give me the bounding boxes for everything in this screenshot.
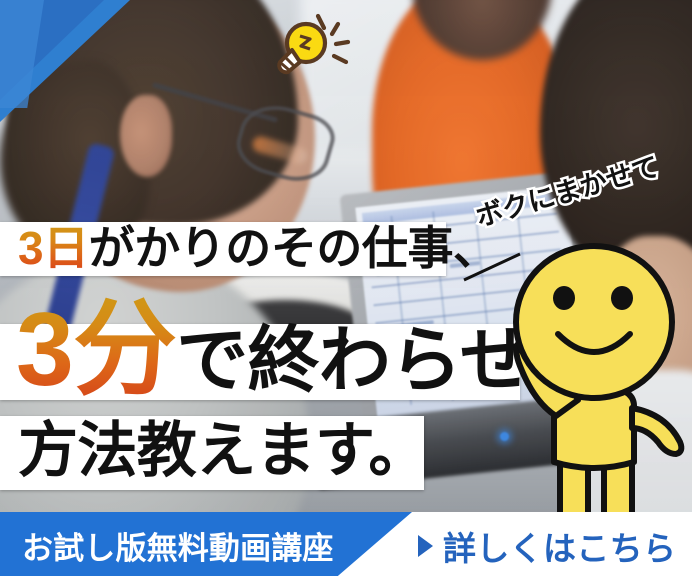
headline-line-1-rest: がかりのその仕事、 xyxy=(89,222,499,274)
cta-badge-label[interactable]: お試し版無料動画講座 xyxy=(22,523,334,568)
lightbulb-icon xyxy=(262,6,358,86)
cta-bar: お試し版無料動画講座 詳しくはこちら xyxy=(0,512,692,576)
cta-link-label[interactable]: 詳しくはこちら xyxy=(443,522,676,570)
headline-accent-3minutes: 3分 xyxy=(16,292,176,408)
mascot-character-thumbs-up xyxy=(494,236,692,536)
cta-link[interactable]: 詳しくはこちら xyxy=(418,522,676,570)
headline-line-3: 方法教えます。 xyxy=(18,412,428,490)
promo-banner: 3日がかりのその仕事、 3分で終わらせる 方法教えます。 ボクにまかせて お試し… xyxy=(0,0,692,576)
headline-line-1: 3日がかりのその仕事、 xyxy=(18,220,499,276)
headline-accent-3days: 3日 xyxy=(18,222,89,274)
play-triangle-icon xyxy=(418,535,433,557)
